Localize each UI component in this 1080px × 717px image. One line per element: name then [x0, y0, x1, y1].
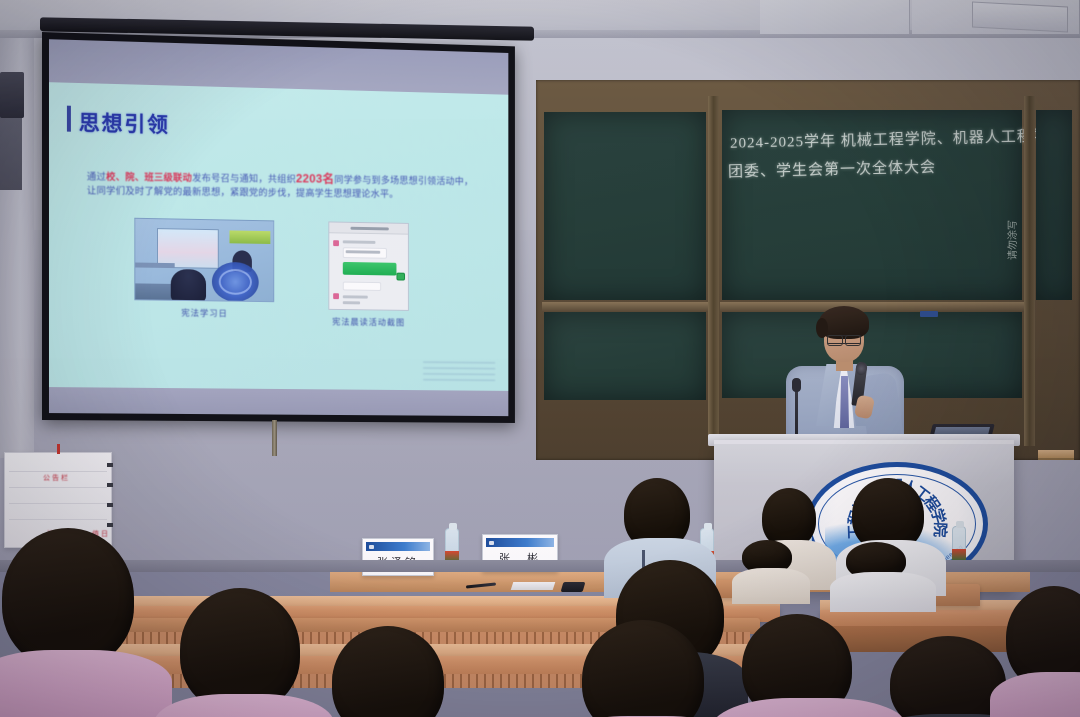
notice-rule	[9, 487, 107, 488]
attendee-head	[2, 528, 134, 668]
projector-screen[interactable]: 思想引领 通过校、院、班三级联动发布号召与通知，共组织2203名同学参与到多场思…	[42, 32, 515, 423]
projector-screen-support-pole	[272, 420, 277, 456]
chat-bubble-highlight	[343, 262, 397, 276]
attendee-shoulders	[0, 650, 172, 717]
notice-rule	[9, 519, 107, 520]
blackboard-panel-left-upper	[544, 112, 706, 300]
ceiling-panel	[760, 0, 910, 34]
wall-speaker-icon	[0, 72, 24, 118]
chat-avatar-icon	[333, 293, 339, 299]
photo-wall-strip	[135, 263, 174, 269]
lecture-hall-scene: 2024-2025学年 机械工程学院、机器人工程学院 团委、学生会第一次全体大会…	[0, 0, 1080, 717]
notice-rule	[9, 471, 107, 472]
presentation-slide: 思想引领 通过校、院、班三级联动发布号召与通知，共组织2203名同学参与到多场思…	[49, 39, 508, 416]
slide-paragraph-text: 通过校、院、班三级联动发布号召与通知，共组织2203名同学参与到多场思想引领活动…	[87, 172, 473, 201]
mobile-phone[interactable]	[561, 582, 586, 592]
wall-shelf	[1038, 450, 1074, 460]
document-paper[interactable]	[511, 582, 556, 590]
speaker-glasses-icon	[826, 335, 862, 344]
chalk-ledge-left	[542, 302, 708, 311]
podium-emblem-glyph: 院	[929, 522, 951, 541]
chat-line	[343, 295, 368, 298]
speaker-necktie	[840, 376, 849, 428]
chat-bubble-incoming	[343, 282, 381, 291]
blackboard-divider-right	[1024, 96, 1035, 446]
blackboard-panel-left-lower	[544, 312, 706, 400]
chat-line	[343, 301, 360, 304]
attendee-shoulders	[154, 694, 334, 717]
slide-figure-1: 宪法学习日	[134, 218, 274, 320]
photo-person-seated	[171, 269, 206, 302]
blackboard-eraser[interactable]	[920, 311, 938, 317]
blackboard-panel-far-right	[1036, 110, 1072, 300]
slide-title: 思想引领	[79, 107, 490, 147]
notice-binder-tabs	[107, 463, 113, 539]
attendee-head	[762, 488, 816, 548]
chat-avatar-icon	[333, 240, 339, 246]
blackboard-text-line-1: 2024-2025学年 机械工程学院、机器人工程学院	[730, 124, 1065, 153]
chat-line	[343, 240, 376, 244]
slide-title-accent-bar	[67, 106, 71, 132]
chat-line	[346, 250, 381, 254]
slide-figures: 宪法学习日	[69, 217, 490, 330]
attendee-shoulders	[732, 568, 810, 604]
slide-watermark	[423, 357, 495, 381]
blackboard-panel-right-upper: 2024-2025学年 机械工程学院、机器人工程学院 团委、学生会第一次全体大会	[722, 110, 1022, 300]
photo-banner	[229, 230, 270, 244]
attendee-shoulders	[830, 572, 936, 612]
slide-highlight-1: 校、院、班三级联动	[106, 172, 192, 184]
nameplate-header-bar	[486, 538, 554, 547]
blackboard-text-line-2: 团委、学生会第一次全体大会	[728, 156, 936, 182]
slide-photo-chat-screenshot	[328, 221, 408, 310]
blackboard-divider	[708, 96, 719, 446]
slide-figure-2-caption: 宪法晨读活动截图	[332, 316, 405, 329]
slide-highlight-2: 2203名	[296, 172, 334, 186]
slide-photo-constitution-day	[134, 218, 274, 302]
blackboard-side-note: 请勿涂写	[1004, 220, 1019, 260]
notice-rule	[9, 503, 107, 504]
slide-content: 思想引领 通过校、院、班三级联动发布号召与通知，共组织2203名同学参与到多场思…	[49, 82, 508, 391]
slide-figure-2: 宪法晨读活动截图	[328, 221, 408, 328]
notice-title: 公告栏	[43, 473, 70, 483]
ceiling-vent	[972, 1, 1068, 32]
photo-university-emblem-icon	[212, 262, 259, 302]
chat-header-bar	[329, 222, 408, 234]
slide-bottom-band	[49, 387, 508, 416]
chat-status-badge	[396, 273, 405, 281]
notice-pin-icon	[57, 444, 60, 454]
slide-paragraph: 通过校、院、班三级联动发布号召与通知，共组织2203名同学参与到多场思想引领活动…	[87, 169, 478, 203]
slide-title-group: 思想引领	[79, 107, 490, 147]
slide-figure-1-caption: 宪法学习日	[181, 307, 227, 319]
nameplate-header-bar	[366, 542, 430, 551]
